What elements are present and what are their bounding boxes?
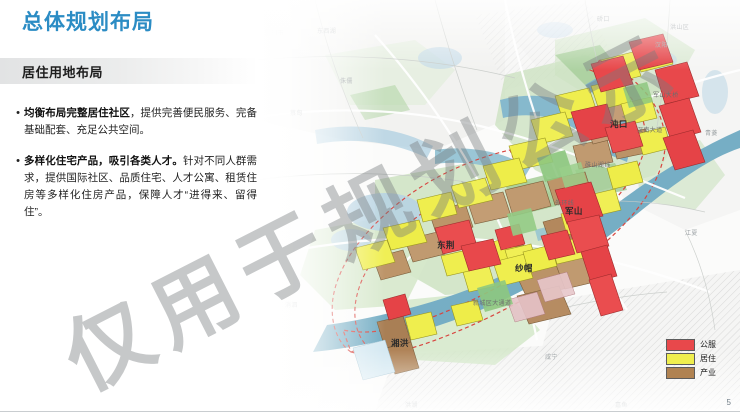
map-label: 洪湖 xyxy=(405,400,418,409)
legend-swatch-industry xyxy=(666,367,695,379)
map-label: 汉川市 xyxy=(265,28,284,37)
legend-label: 居住 xyxy=(700,353,716,364)
bullet-lead-text: 均衡布局完整居住社区 xyxy=(24,107,130,119)
map-label: 东西湖 xyxy=(317,26,336,35)
map-label: 嘉鱼 xyxy=(615,400,628,409)
footer-divider xyxy=(0,411,740,412)
map-label: 硚口 xyxy=(597,14,610,23)
map-label: 消泗 xyxy=(285,300,298,309)
map-label: 新城区大通道 xyxy=(473,298,511,307)
map-label: 蔡甸 xyxy=(290,108,303,117)
map-label: 洪山区 xyxy=(670,22,689,31)
list-item: • 均衡布局完整居住社区，提供完善便民服务、完备基础配套、充足公共空间。 xyxy=(12,105,257,139)
legend-swatch-public-service xyxy=(666,339,695,351)
map-label: 湘洪 xyxy=(391,337,409,349)
list-item: • 多样化住宅产品，吸引各类人才。针对不同人群需求，提供国际社区、品质住宅、人才… xyxy=(12,153,257,221)
bullet-text: 多样化住宅产品，吸引各类人才。针对不同人群需求，提供国际社区、品质住宅、人才公寓… xyxy=(24,153,257,221)
bullet-lead-text: 多样化住宅产品，吸引各类人才。 xyxy=(24,155,183,167)
map-label: 东荆 xyxy=(437,239,455,251)
map-label: 硃山湖线 xyxy=(585,160,611,169)
bullet-text: 均衡布局完整居住社区，提供完善便民服务、完备基础配套、充足公共空间。 xyxy=(24,105,257,139)
bullet-list: • 均衡布局完整居住社区，提供完善便民服务、完备基础配套、充足公共空间。 • 多… xyxy=(12,105,257,235)
legend-item: 产业 xyxy=(666,366,734,379)
map-label: 侏儒 xyxy=(340,76,353,85)
legend-item: 公服 xyxy=(666,338,734,351)
map-label: 江夏 xyxy=(685,228,698,237)
bullet-marker: • xyxy=(12,105,24,139)
bullet-marker: • xyxy=(12,153,24,221)
page-title: 总体规划布局 xyxy=(22,12,154,33)
text-panel: 总体规划布局 居住用地布局 • 均衡布局完整居住社区，提供完善便民服务、完备基础… xyxy=(0,0,258,416)
section-subtitle: 居住用地布局 xyxy=(22,62,103,81)
map-label: 军山大桥 xyxy=(653,90,679,99)
legend-label: 产业 xyxy=(700,367,716,378)
map-legend: 公服 居住 产业 xyxy=(666,338,734,380)
map-label: 咸宁 xyxy=(545,352,558,361)
legend-swatch-residential xyxy=(666,353,695,365)
map-label: 汉阳 xyxy=(655,40,668,49)
slide-canvas: 沌口军山纱帽东荆湘洪汉南大道硃山湖线外环线军山大桥新城区大通道蔡甸东西湖汉川市侏… xyxy=(0,0,740,416)
map-label: 汉南大道 xyxy=(637,125,663,134)
map-label: 青菱 xyxy=(705,128,718,137)
legend-label: 公服 xyxy=(700,339,716,350)
legend-item: 居住 xyxy=(666,352,734,365)
page-number: 5 xyxy=(727,398,731,407)
map-label: 外环线 xyxy=(555,198,574,207)
map-label: 纱帽 xyxy=(515,262,533,274)
map-label: 沌口 xyxy=(610,118,628,130)
